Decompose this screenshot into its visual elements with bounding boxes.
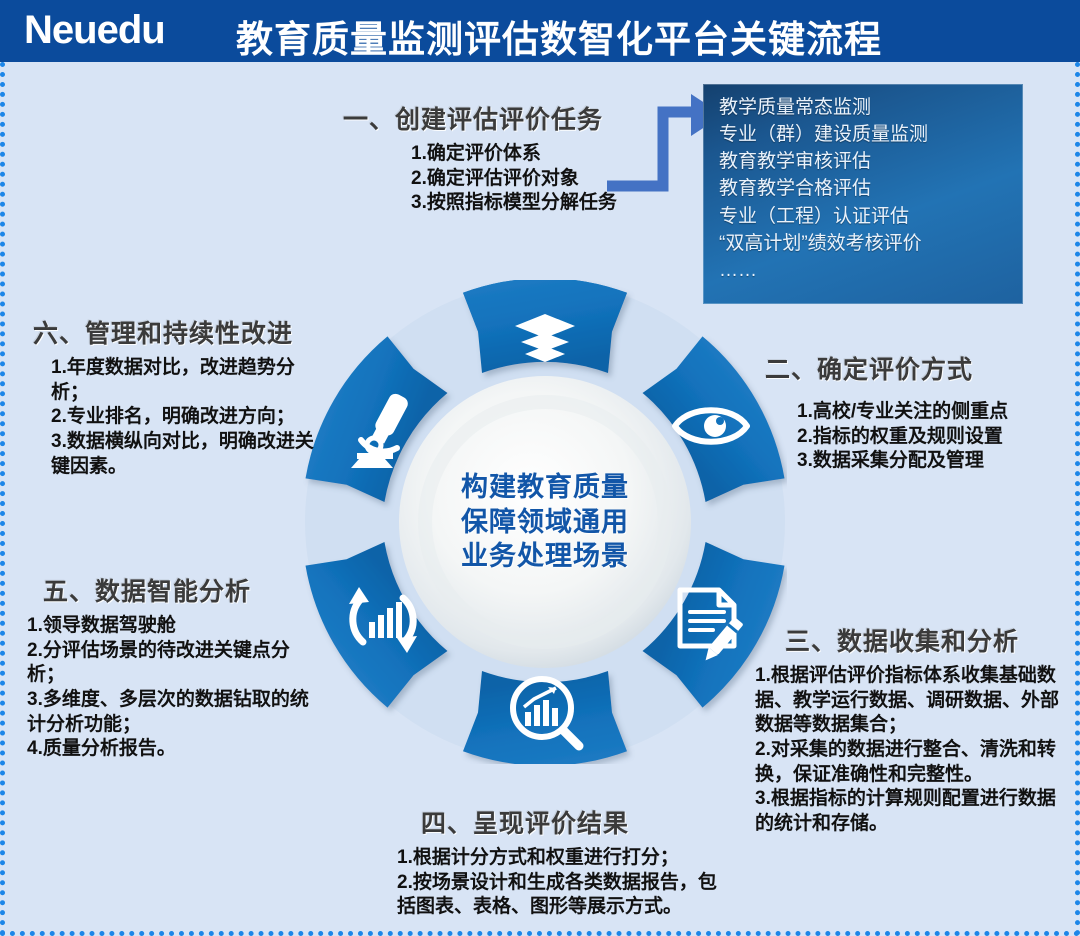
section-6: 六、管理和持续性改进 1.年度数据对比，改进趋势分析； 2.专业排名，明确改进方… xyxy=(33,314,329,479)
scenario-list: 教学质量常态监测 专业（群）建设质量监测 教育教学审核评估 教育教学合格评估 专… xyxy=(719,94,1015,284)
section-4-title: 四、呈现评价结果 xyxy=(421,804,723,840)
section-5: 五、数据智能分析 1.领导数据驾驶舱 2.分评估场景的待改进关键点分析； 3.多… xyxy=(27,572,327,762)
section-3-body: 1.根据评估评价指标体系收集基础数据、教学运行数据、调研数据、外部数据等数据集合… xyxy=(755,664,1073,837)
slide-root: Neuedu 教育质量监测评估数智化平台关键流程 xyxy=(0,0,1080,936)
header-bar: Neuedu 教育质量监测评估数智化平台关键流程 xyxy=(0,0,1080,62)
section-2-title: 二、确定评价方式 xyxy=(765,350,1008,386)
section-3: 三、数据收集和分析 1.根据评估评价指标体系收集基础数据、教学运行数据、调研数据… xyxy=(755,622,1073,837)
section-1: 一、创建评估评价任务 1.确定评价体系 2.确定评估评价对象 3.按照指标模型分… xyxy=(343,100,617,216)
page-title: 教育质量监测评估数智化平台关键流程 xyxy=(236,9,882,62)
section-5-body: 1.领导数据驾驶舱 2.分评估场景的待改进关键点分析； 3.多维度、多层次的数据… xyxy=(27,614,327,762)
section-2: 二、确定评价方式 1.高校/专业关注的侧重点 2.指标的权重及规则设置 3.数据… xyxy=(765,350,1008,474)
section-5-title: 五、数据智能分析 xyxy=(43,572,327,608)
process-wheel xyxy=(303,280,787,764)
section-4: 四、呈现评价结果 1.根据计分方式和权重进行打分； 2.按场景设计和生成各类数据… xyxy=(393,804,723,920)
section-1-body: 1.确定评价体系 2.确定评估评价对象 3.按照指标模型分解任务 xyxy=(411,142,617,216)
wheel-core xyxy=(399,376,691,668)
content-canvas: 构建教育质量 保障领域通用 业务处理场景 一、创建评估评价任务 1.确定评价体系… xyxy=(0,62,1080,936)
section-3-title: 三、数据收集和分析 xyxy=(785,622,1073,658)
brand-logo: Neuedu xyxy=(24,8,165,53)
section-1-title: 一、创建评估评价任务 xyxy=(343,100,617,136)
section-4-body: 1.根据计分方式和权重进行打分； 2.按场景设计和生成各类数据报告，包括图表、表… xyxy=(397,846,723,920)
section-6-title: 六、管理和持续性改进 xyxy=(33,314,329,350)
section-2-body: 1.高校/专业关注的侧重点 2.指标的权重及规则设置 3.数据采集分配及管理 xyxy=(797,400,1008,474)
scenario-callout-box: 教学质量常态监测 专业（群）建设质量监测 教育教学审核评估 教育教学合格评估 专… xyxy=(703,84,1023,304)
section-6-body: 1.年度数据对比，改进趋势分析； 2.专业排名，明确改进方向； 3.数据横纵向对… xyxy=(51,356,329,479)
